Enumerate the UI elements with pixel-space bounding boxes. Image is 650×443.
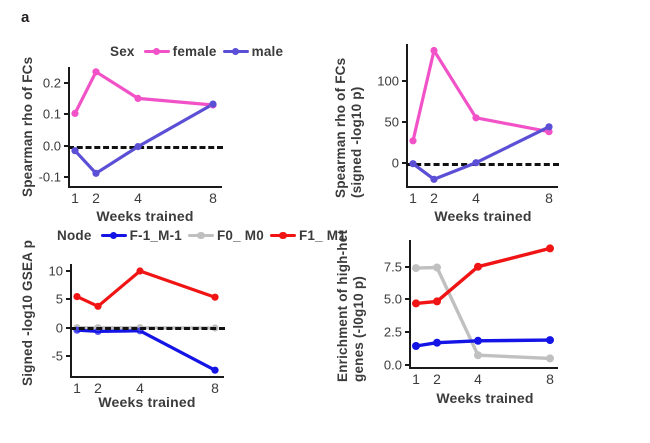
legend-entry-f-1-m-1[interactable]: F-1_M-1	[101, 228, 182, 243]
chart-spearman-rho-fcs: Sex female male	[0, 30, 325, 220]
x-tick-label-3-3: 8	[546, 371, 554, 387]
x-tick-label-3-0: 1	[412, 371, 420, 387]
x-tick-label-0-0: 1	[71, 190, 79, 206]
legend-title-sex: Sex	[110, 44, 135, 59]
legend-label-male: male	[252, 44, 284, 59]
legend-key-female-icon	[144, 46, 170, 58]
y-tick-0-3	[64, 176, 68, 178]
chart-enrichment-high-het-genes: 7.5 5.0 2.5 0.0 1 2 4 8 Weeks trained En…	[325, 222, 650, 422]
x-axis-label-3: Weeks trained	[436, 390, 533, 406]
y-axis-label-2: Signed -log10 GSEA p	[20, 240, 35, 386]
plot-area-3: 7.5 5.0 2.5 0.0 1 2 4 8	[410, 240, 558, 367]
x-tick-label-1-2: 4	[472, 190, 480, 206]
legend-key-f1-m1-icon	[270, 230, 296, 242]
legend-entry-f0-m0[interactable]: F0_ M0	[188, 228, 264, 243]
legend-key-male-icon	[223, 46, 249, 58]
x-tick-label-1-3: 8	[545, 190, 553, 206]
legend-key-f0-m0-icon	[188, 230, 214, 242]
y-tick-0-0	[64, 82, 68, 84]
y-tick-label-3-1: 5.0	[366, 292, 402, 307]
y-tick-label-3-0: 7.5	[366, 259, 402, 274]
y-tick-1-1	[402, 121, 406, 123]
legend-title-node: Node	[57, 228, 92, 243]
x-tick-label-2-0: 1	[73, 380, 81, 396]
y-axis-label-1: Spearman rho of FCs (signed -log10 p)	[333, 58, 364, 198]
plot-area-1: 100 50 0 1 2 4 8	[407, 44, 558, 186]
legend-label-f0-m0: F0_ M0	[217, 228, 264, 243]
y-tick-label-1-2: 0	[365, 155, 399, 170]
y-tick-3-1	[405, 298, 409, 300]
plot-area-0: 0.2 0.1 0.0 -0.1 1 2 4 8	[69, 67, 222, 186]
y-tick-0-1	[64, 113, 68, 115]
x-tick-label-0-1: 2	[92, 190, 100, 206]
y-axis-label-3: Enrichment of high-het genes (-l0g10 p)	[335, 230, 366, 382]
chart-spearman-rho-signed-log10p: 100 50 0 1 2 4 8 Weeks trained Spearman …	[325, 30, 650, 220]
y-axis-label-0: Spearman rho of FCs	[20, 57, 35, 197]
x-tick-label-0-2: 4	[134, 190, 142, 206]
x-tick-label-3-1: 2	[433, 371, 441, 387]
y-tick-label-1-0: 100	[365, 73, 399, 88]
series-lines-0	[69, 67, 222, 186]
legend-label-female: female	[173, 44, 217, 59]
x-tick-label-0-3: 8	[209, 190, 217, 206]
y-tick-2-0	[66, 270, 70, 272]
y-tick-3-2	[405, 331, 409, 333]
panel-letter: a	[21, 9, 29, 26]
y-tick-label-3-2: 2.5	[366, 325, 402, 340]
figure-panel-a: a Sex female male	[0, 0, 650, 443]
x-axis-2	[70, 376, 224, 378]
series-lines-3	[410, 240, 558, 367]
y-tick-2-3	[66, 355, 70, 357]
x-axis-0	[68, 186, 222, 188]
y-tick-label-1-1: 50	[365, 114, 399, 129]
y-tick-2-1	[66, 298, 70, 300]
chart-signed-log10-gsea-p: Node F-1_M-1 F0_ M0 F	[0, 222, 325, 422]
y-tick-3-3	[405, 364, 409, 366]
legend-node: Node F-1_M-1 F0_ M0 F	[57, 228, 352, 243]
plot-area-2: 10 5 0 -5 1 2 4 8	[71, 264, 224, 376]
legend-entry-female[interactable]: female	[144, 44, 217, 59]
y-tick-1-0	[402, 80, 406, 82]
y-tick-label-3-3: 0.0	[366, 357, 402, 372]
x-tick-label-1-0: 1	[409, 190, 417, 206]
y-tick-3-0	[405, 266, 409, 268]
legend-key-f-1-m-1-icon	[101, 230, 127, 242]
legend-label-f-1-m-1: F-1_M-1	[130, 228, 182, 243]
legend-entry-male[interactable]: male	[223, 44, 284, 59]
series-lines-1	[407, 44, 558, 186]
x-axis-1	[406, 186, 558, 188]
x-tick-label-2-3: 8	[211, 380, 219, 396]
zero-reference-line-2	[70, 327, 225, 330]
x-axis-3	[409, 367, 558, 369]
x-tick-label-1-1: 2	[430, 190, 438, 206]
x-tick-label-3-2: 4	[474, 371, 482, 387]
legend-sex: Sex female male	[110, 44, 289, 59]
x-axis-label-2: Weeks trained	[98, 394, 195, 410]
series-lines-2	[71, 264, 224, 376]
